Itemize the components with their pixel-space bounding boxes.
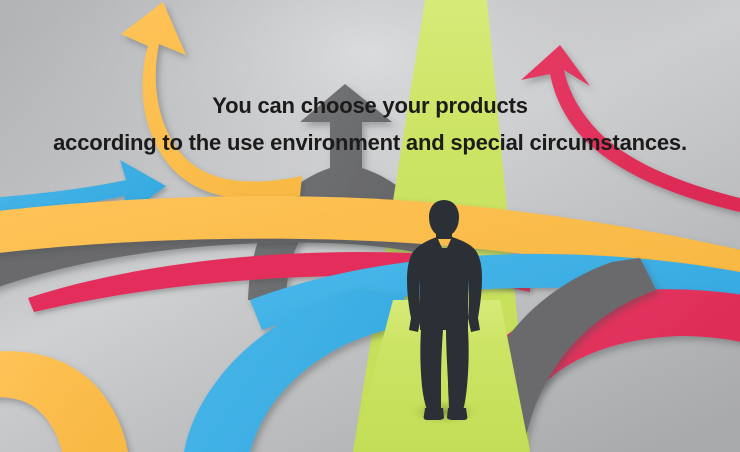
choice-banner: You can choose your products according t… bbox=[0, 0, 740, 452]
scene-graphic bbox=[0, 0, 740, 452]
figure-ground-shadow bbox=[406, 398, 482, 426]
